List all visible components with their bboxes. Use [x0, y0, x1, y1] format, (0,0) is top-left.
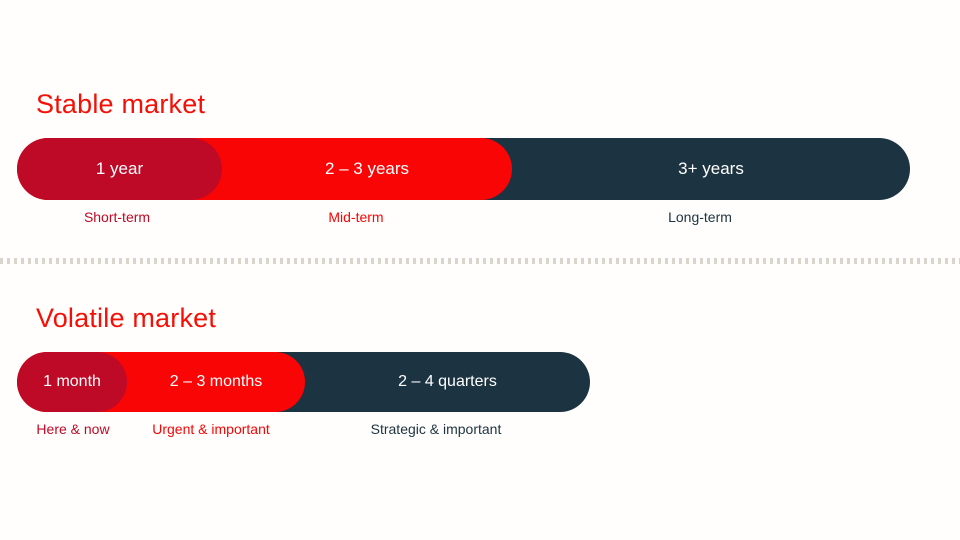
caption-short-term-stable: Short-term	[17, 208, 217, 226]
section-divider-dotted	[0, 258, 960, 264]
segment-here-and-now-volatile[interactable]: 1 month	[17, 352, 127, 412]
caption-mid-term-stable: Mid-term	[225, 208, 487, 226]
segment-label-short-term-stable: 1 year	[96, 159, 143, 179]
segment-short-term-stable[interactable]: 1 year	[17, 138, 222, 200]
section-title-stable-market: Stable market	[36, 88, 205, 120]
caption-long-term-stable: Long-term	[512, 208, 888, 226]
caption-urgent-volatile: Urgent & important	[128, 420, 294, 438]
section-title-volatile-market: Volatile market	[36, 302, 216, 334]
slide-canvas: Stable market 3+ years 2 – 3 years 1 yea…	[0, 0, 960, 540]
segment-label-here-and-now-volatile: 1 month	[43, 373, 101, 391]
caption-strategic-volatile: Strategic & important	[305, 420, 567, 438]
caption-here-and-now-volatile: Here & now	[12, 420, 134, 438]
